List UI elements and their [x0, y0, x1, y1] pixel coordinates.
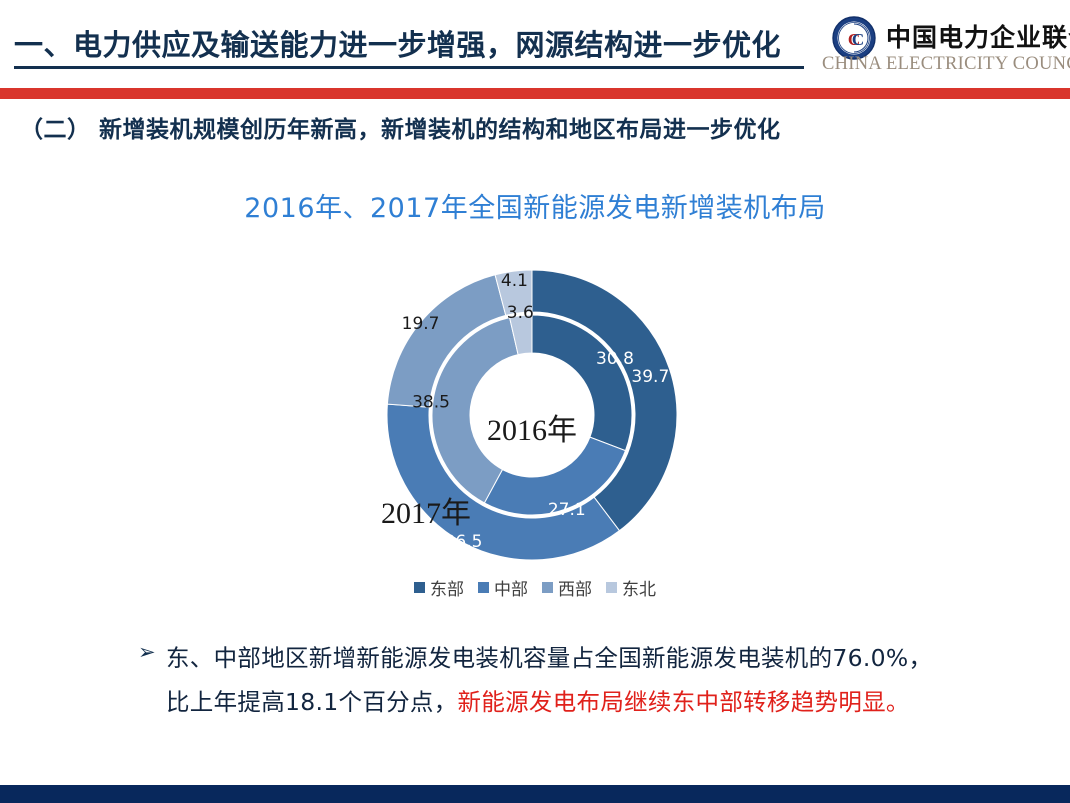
organization-logo: C C 中国电力企业联合会 CHINA ELECTRICITY COUNCIL: [820, 14, 1064, 84]
page-title: 一、电力供应及输送能力进一步增强，网源结构进一步优化: [14, 22, 814, 64]
note-line-2-plain: 比上年提高18.1个百分点，: [166, 688, 458, 716]
slide-header: 一、电力供应及输送能力进一步增强，网源结构进一步优化 C C 中国电力企业联合会…: [0, 0, 1070, 88]
legend-swatch-icon-2: [542, 582, 553, 593]
legend-swatch-icon-0: [414, 582, 425, 593]
donut-chart: 39.736.519.74.130.827.138.53.6 2016年 201…: [350, 265, 710, 565]
note-line-1: 东、中部地区新增新能源发电装机容量占全国新能源发电装机的76.0%，: [130, 636, 970, 680]
donut-label-2017-西部: 19.7: [402, 314, 440, 334]
logo-name-cn: 中国电力企业联合会: [886, 18, 1070, 54]
donut-label-2017-东部: 39.7: [631, 367, 669, 387]
donut-label-2016-东北: 3.6: [507, 303, 534, 323]
legend-item-0[interactable]: 东部: [414, 575, 464, 600]
legend-label-0: 东部: [430, 575, 464, 600]
donut-center-label-2016: 2016年: [487, 414, 577, 447]
chart-title: 2016年、2017年全国新能源发电新增装机布局: [0, 186, 1070, 225]
header-red-divider: [0, 88, 1070, 99]
legend-item-2[interactable]: 西部: [542, 575, 592, 600]
legend-swatch-icon-1: [478, 582, 489, 593]
bullet-arrow-icon: ➢: [138, 642, 156, 663]
legend-label-3: 东北: [622, 575, 656, 600]
donut-center-label-2017: 2017年: [381, 497, 471, 530]
donut-label-2016-西部: 38.5: [412, 393, 450, 413]
legend-label-1: 中部: [494, 575, 528, 600]
donut-label-2016-中部: 27.1: [548, 500, 586, 520]
donut-label-2017-中部: 36.5: [445, 532, 483, 552]
legend-swatch-icon-3: [606, 582, 617, 593]
svg-text:C: C: [852, 30, 864, 49]
logo-name-en: CHINA ELECTRICITY COUNCIL: [822, 54, 1070, 75]
subsection-title: （二） 新增装机规模创历年新高，新增装机的结构和地区布局进一步优化: [20, 110, 781, 144]
note-line-2-highlight: 新能源发电布局继续东中部转移趋势明显。: [458, 688, 910, 716]
legend-item-1[interactable]: 中部: [478, 575, 528, 600]
legend-label-2: 西部: [558, 575, 592, 600]
donut-label-2016-东部: 30.8: [596, 349, 634, 369]
bottom-note: ➢ 东、中部地区新增新能源发电装机容量占全国新能源发电装机的76.0%， 比上年…: [130, 636, 970, 724]
footer-bar: [0, 785, 1070, 803]
donut-label-2017-东北: 4.1: [501, 271, 528, 291]
chart-region: 2016年、2017年全国新能源发电新增装机布局 39.736.519.74.1…: [0, 170, 1070, 610]
note-line-2: 比上年提高18.1个百分点，新能源发电布局继续东中部转移趋势明显。: [130, 680, 970, 724]
chart-legend: 东部 中部 西部 东北: [0, 575, 1070, 600]
donut-chart-svg: 39.736.519.74.130.827.138.53.6 2016年 201…: [350, 265, 710, 565]
legend-item-3[interactable]: 东北: [606, 575, 656, 600]
title-underline: [14, 66, 804, 69]
